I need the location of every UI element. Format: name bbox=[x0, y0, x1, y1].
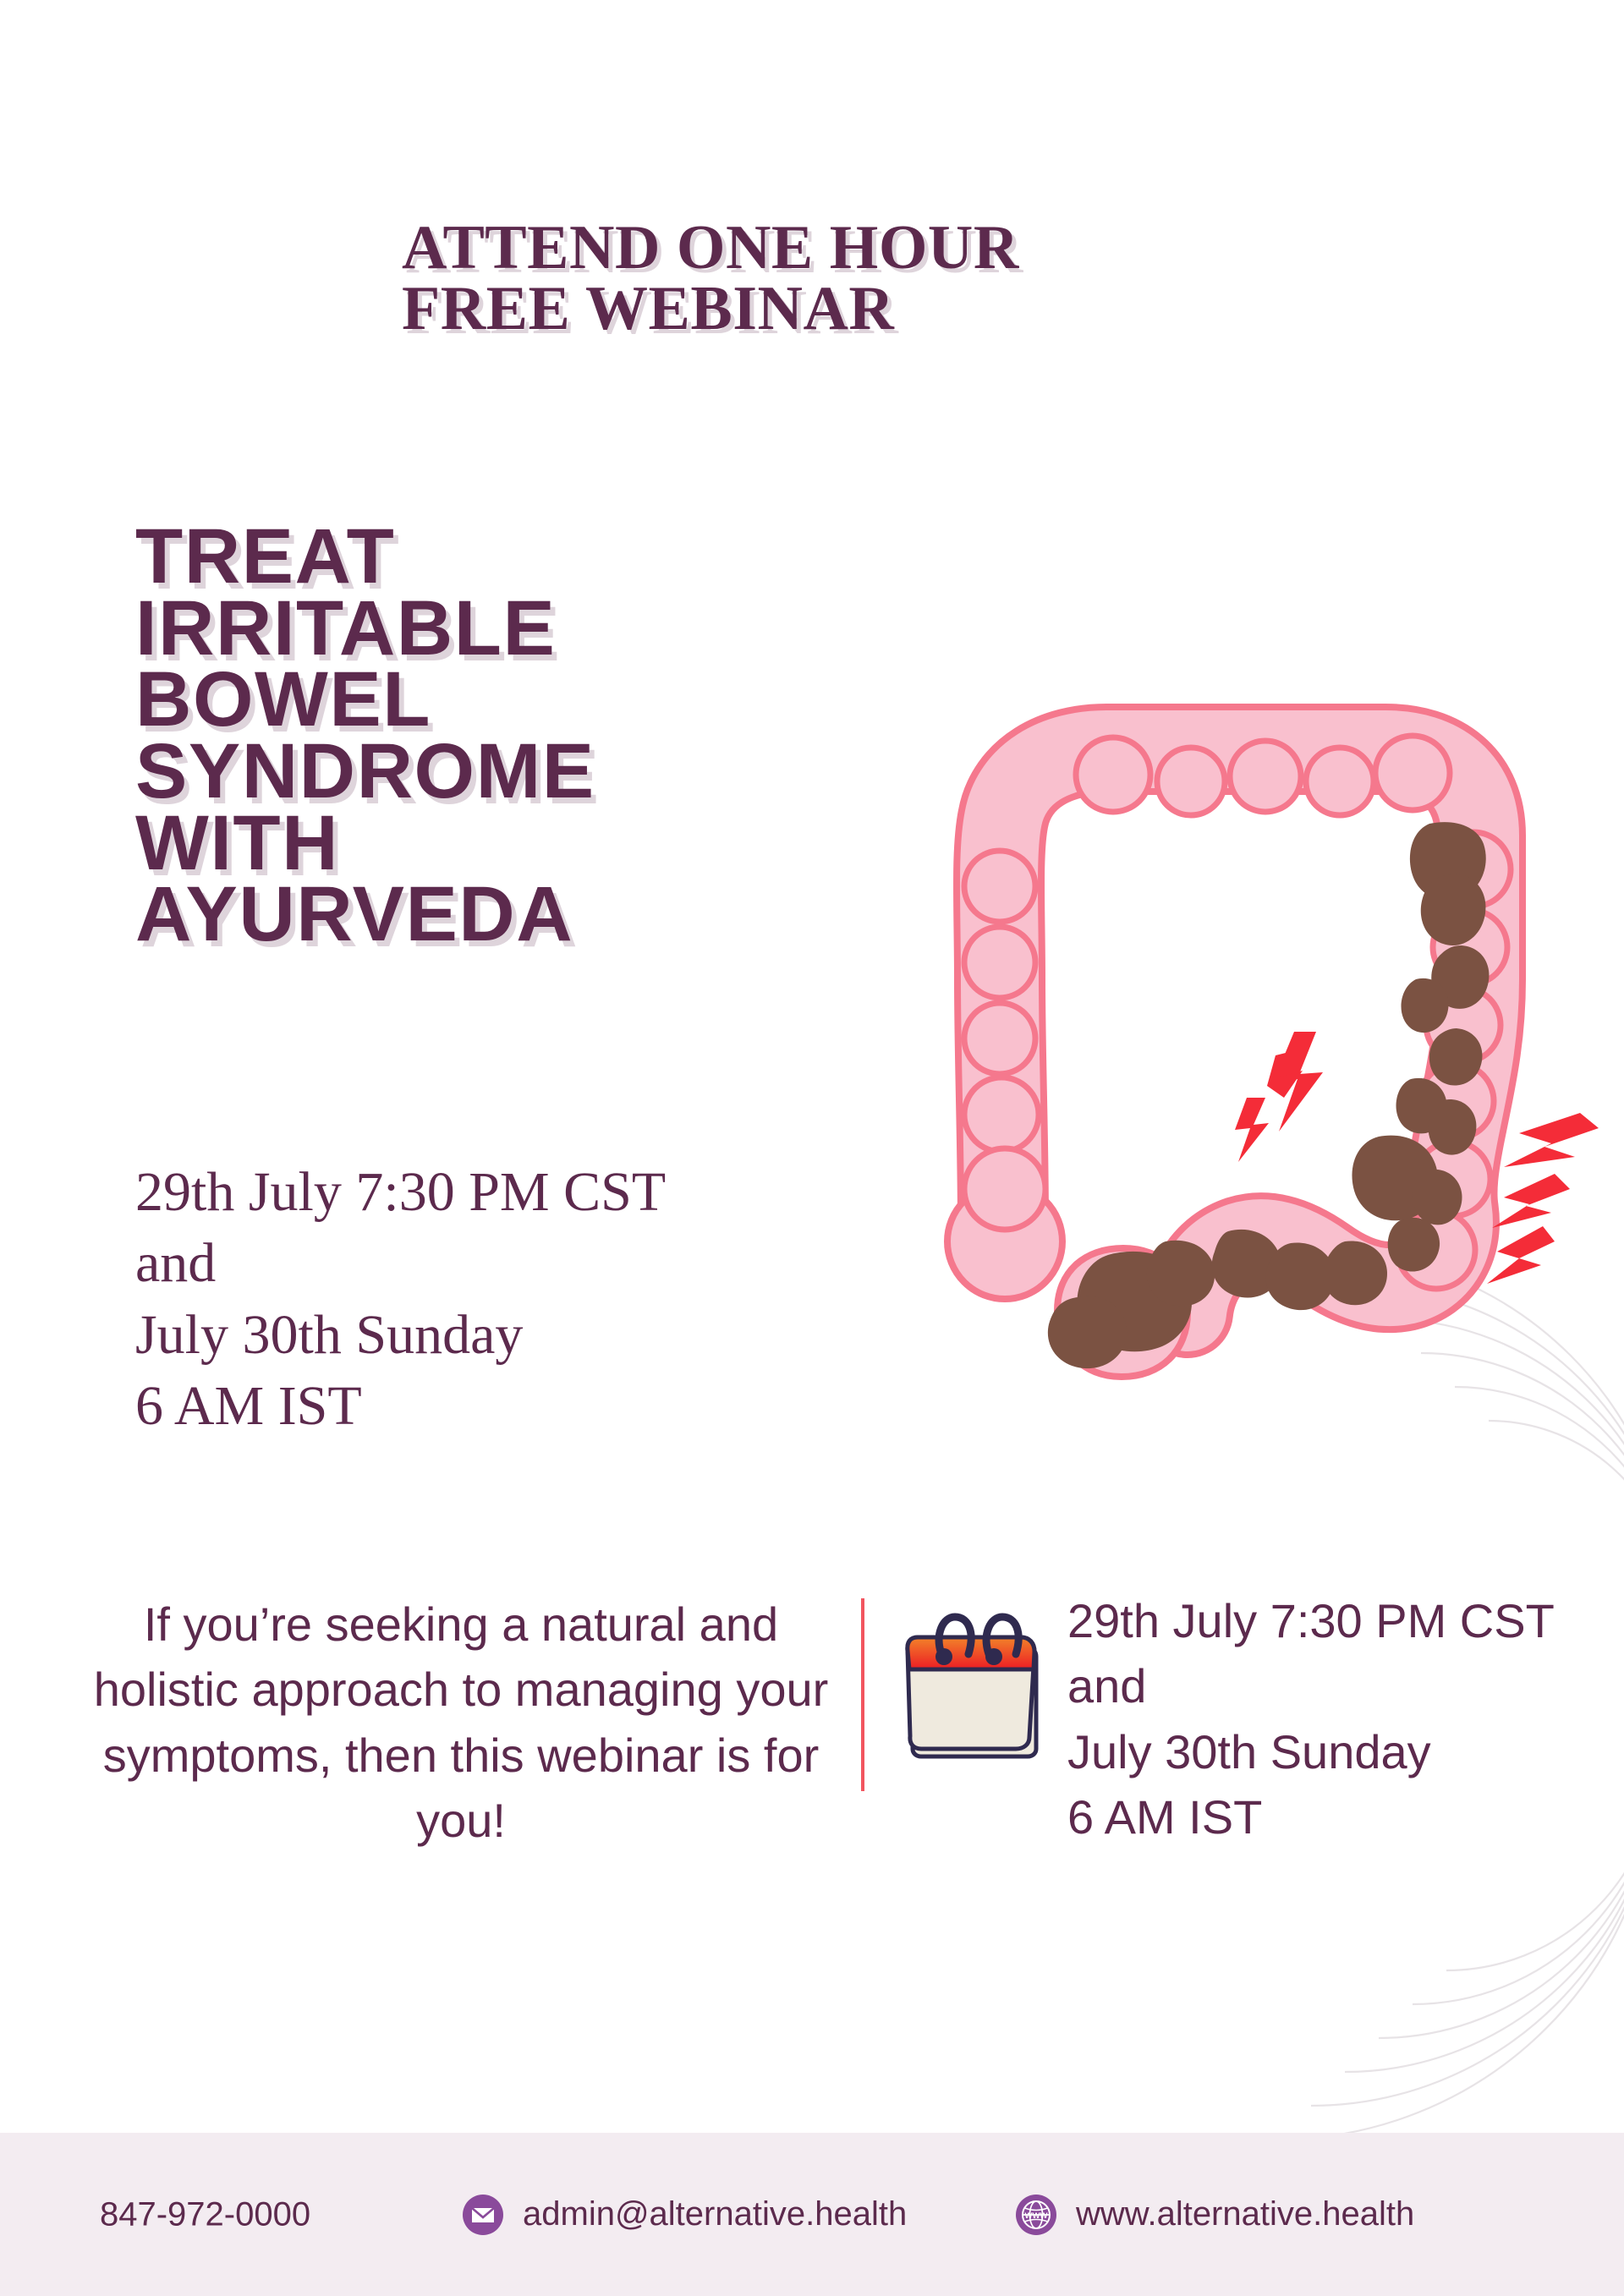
header-line-2: FREE WEBINAR bbox=[402, 279, 1248, 340]
title-line-1: TREAT bbox=[135, 521, 829, 593]
title-line-2: IRRITABLE bbox=[135, 593, 829, 665]
poster-canvas: ATTEND ONE HOUR FREE WEBINAR TREAT IRRIT… bbox=[0, 0, 1624, 2296]
website-url: www.alternative.health bbox=[1076, 2195, 1414, 2233]
svg-text:WWW: WWW bbox=[1025, 2211, 1048, 2221]
schedule-line-4: 6 AM IST bbox=[1067, 1784, 1592, 1849]
globe-www-icon: WWW bbox=[1015, 2194, 1057, 2236]
title-line-3: BOWEL bbox=[135, 664, 829, 736]
schedule-line-1: 29th July 7:30 PM CST bbox=[1067, 1588, 1592, 1653]
date-line-4: 6 AM IST bbox=[135, 1371, 897, 1442]
envelope-icon bbox=[462, 2194, 504, 2236]
schedule-line-3: July 30th Sunday bbox=[1067, 1719, 1592, 1784]
colon-illustration bbox=[912, 700, 1624, 1385]
date-line-2: and bbox=[135, 1228, 897, 1299]
event-date-block: 29th July 7:30 PM CST and July 30th Sund… bbox=[135, 1157, 897, 1443]
lower-section: If you’re seeking a natural and holistic… bbox=[0, 1573, 1624, 2047]
page-title: TREAT IRRITABLE BOWEL SYNDROME WITH AYUR… bbox=[135, 521, 829, 951]
date-line-3: July 30th Sunday bbox=[135, 1300, 897, 1371]
title-line-5: WITH bbox=[135, 808, 829, 879]
schedule-detail: 29th July 7:30 PM CST and July 30th Sund… bbox=[1067, 1588, 1592, 1849]
website-contact[interactable]: WWW www.alternative.health bbox=[1015, 2194, 1414, 2236]
date-line-1: 29th July 7:30 PM CST bbox=[135, 1157, 897, 1228]
phone-number[interactable]: 847-972-0000 bbox=[100, 2195, 310, 2233]
contact-footer: 847-972-0000 admin@alternative.health WW… bbox=[0, 2133, 1624, 2296]
schedule-line-2: and bbox=[1067, 1653, 1592, 1718]
title-line-4: SYNDROME bbox=[135, 736, 829, 808]
header-line-1: ATTEND ONE HOUR bbox=[402, 218, 1248, 279]
title-line-6: AYURVEDA bbox=[135, 879, 829, 951]
value-proposition-text: If you’re seeking a natural and holistic… bbox=[93, 1592, 829, 1853]
vertical-divider bbox=[861, 1598, 864, 1791]
email-address: admin@alternative.health bbox=[523, 2195, 907, 2233]
poster-header: ATTEND ONE HOUR FREE WEBINAR bbox=[402, 218, 1248, 340]
calendar-icon bbox=[901, 1603, 1045, 1760]
email-contact[interactable]: admin@alternative.health bbox=[462, 2194, 907, 2236]
